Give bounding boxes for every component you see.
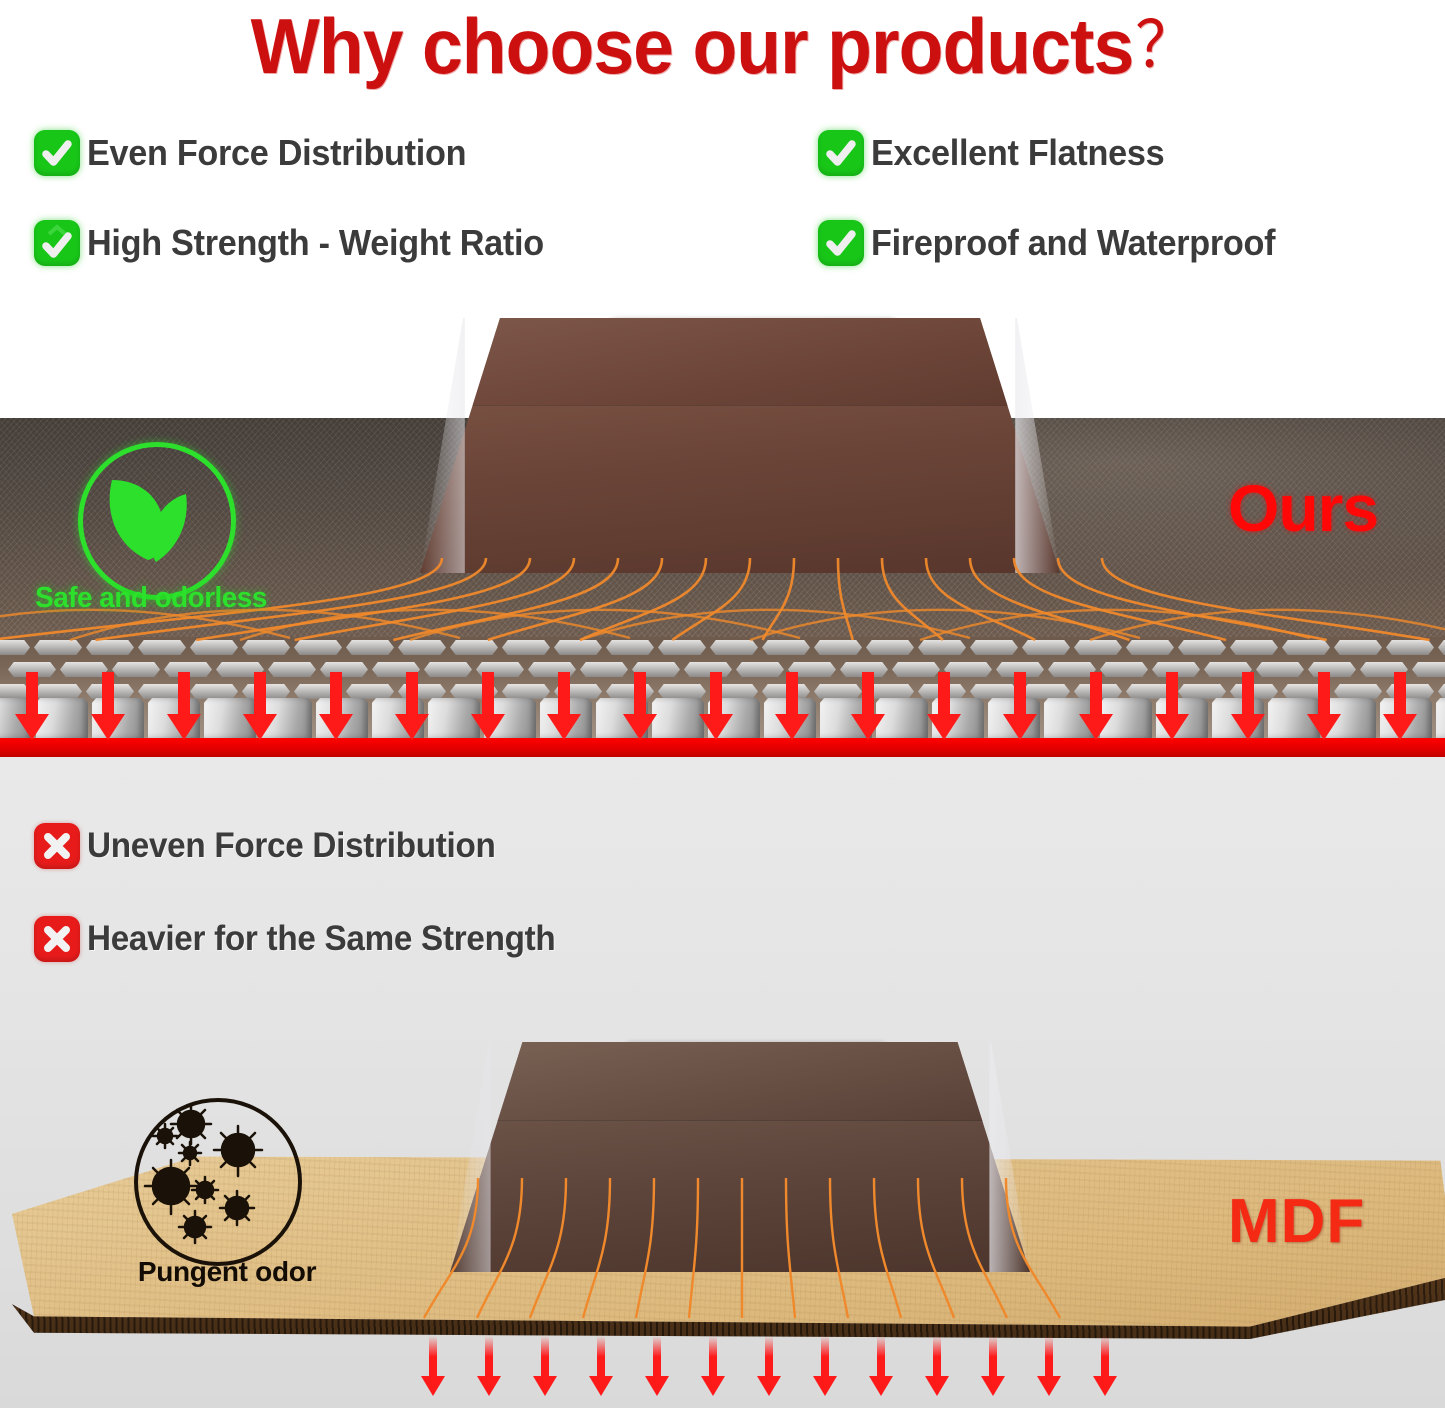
pro-item-label: High Strength - Weight Ratio — [87, 222, 544, 264]
eco-label: Safe and odorless — [31, 582, 271, 615]
germ-cluster-icon — [134, 1098, 294, 1258]
product-edge-highlight-left — [420, 318, 465, 573]
pro-item-fireproof-waterproof: Fireproof and Waterproof — [790, 198, 1445, 288]
infographic-root: Why choose our products？ Even Force Dist… — [0, 0, 1445, 1408]
con-item-heavier: Heavier for the Same Strength — [0, 893, 790, 985]
con-item-label: Heavier for the Same Strength — [87, 919, 555, 959]
check-icon — [818, 130, 864, 176]
pro-item-label: Fireproof and Waterproof — [871, 222, 1275, 264]
con-item-uneven-force: Uneven Force Distribution — [0, 800, 790, 892]
pro-item-label: Excellent Flatness — [871, 132, 1164, 174]
product-block-mdf — [450, 1042, 1030, 1272]
pro-item-flatness: Excellent Flatness — [790, 108, 1445, 198]
product-block-ours — [420, 318, 1060, 573]
con-item-label: Uneven Force Distribution — [87, 826, 496, 866]
check-icon — [34, 130, 80, 176]
x-icon — [34, 916, 80, 962]
product-edge-highlight-right — [1015, 318, 1060, 573]
pro-item-even-force: Even Force Distribution — [0, 108, 790, 198]
cons-list: Uneven Force Distribution Prone to Bendi… — [0, 800, 1445, 985]
check-icon — [34, 220, 80, 266]
odor-label: Pungent odor — [112, 1256, 342, 1288]
ours-label: Ours — [1228, 470, 1378, 546]
product-edge-highlight-right — [989, 1042, 1030, 1272]
con-item-prone-bending: Prone to Bending — [790, 800, 1445, 892]
odor-badge: Pungent odor — [112, 1098, 342, 1288]
con-item-deformed-moisture: Deformed by moisture — [790, 893, 1445, 985]
mdf-label: MDF — [1228, 1186, 1365, 1257]
check-icon — [818, 220, 864, 266]
leaf-icon — [86, 450, 218, 582]
red-base-strip — [0, 738, 1445, 757]
eco-badge: Safe and odorless — [26, 440, 276, 610]
pro-item-strength-weight: High Strength - Weight Ratio — [0, 198, 790, 288]
honeycomb-cells-bottom — [0, 698, 1445, 738]
pros-list: Even Force Distribution Excellent Flatne… — [0, 108, 1445, 288]
page-title: Why choose our products？ — [43, 0, 1401, 92]
product-top-face — [420, 318, 1060, 406]
pro-item-label: Even Force Distribution — [87, 132, 466, 174]
page-title-text: Why choose our products — [251, 2, 1134, 90]
honeycomb-core — [0, 637, 1445, 738]
product-edge-highlight-left — [450, 1042, 491, 1272]
question-mark: ？ — [1135, 9, 1194, 81]
product-top-face — [450, 1042, 1030, 1121]
x-icon — [34, 823, 80, 869]
